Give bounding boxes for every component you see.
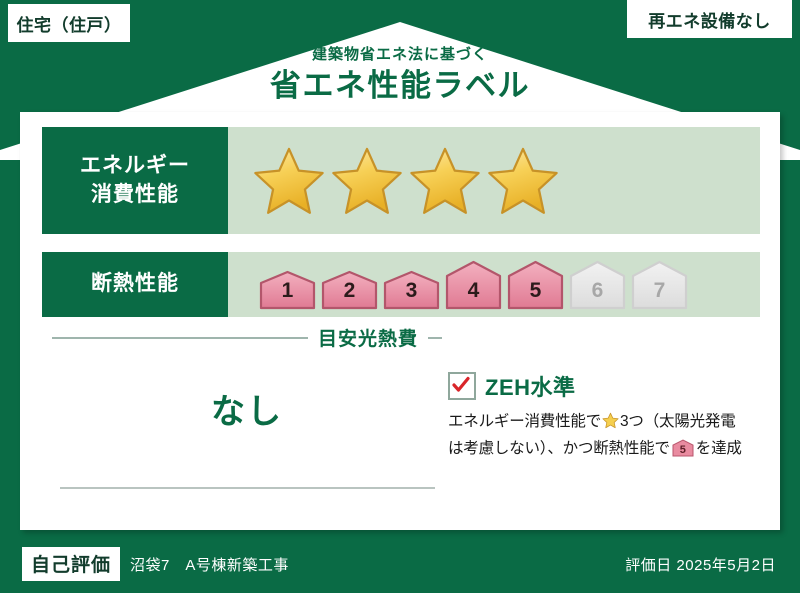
heading-rule-right — [428, 337, 442, 339]
building-name: 沼袋7 A号棟新築工事 — [130, 554, 289, 575]
house-icon-inline: 5 — [672, 439, 694, 457]
star-icon — [486, 145, 560, 217]
energy-performance-label-cell: エネルギー 消費性能 — [42, 127, 228, 234]
utility-cost-heading: 目安光熱費 — [52, 324, 442, 351]
building-type-tag: 住宅（住戸） — [8, 4, 130, 42]
star-icon — [330, 145, 404, 217]
evaluation-date: 評価日 2025年5月2日 — [625, 554, 800, 575]
renewable-energy-tag-label: 再エネ設備なし — [648, 7, 771, 32]
insulation-level-7: 7 — [630, 260, 689, 310]
insulation-performance-label-cell: 断熱性能 — [42, 252, 228, 317]
zeh-desc-part3: を達成 — [696, 440, 742, 457]
label-card: エネルギー 消費性能 断熱性能 1234567 目安光熱費 なし — [20, 112, 780, 530]
star-icon-inline — [602, 412, 619, 437]
energy-performance-value-cell — [228, 127, 760, 234]
energy-label-line1: エネルギー — [80, 152, 190, 180]
zeh-desc-part1: エネルギー消費性能で — [448, 413, 601, 430]
star-rating — [252, 145, 560, 217]
zeh-standard-block: ZEH水準 エネルギー消費性能で 3つ（太陽光発電 は考慮しない）、かつ断熱性能… — [448, 370, 768, 461]
zeh-heading: ZEH水準 — [448, 370, 768, 402]
insulation-level-5: 5 — [506, 260, 565, 310]
house-icon-inline-number: 5 — [672, 442, 694, 459]
insulation-label: 断熱性能 — [91, 270, 179, 298]
heading-rule-left — [52, 337, 308, 339]
star-icon — [252, 145, 326, 217]
zeh-title: ZEH水準 — [485, 370, 576, 402]
label-title: 省エネ性能ラベル — [0, 68, 800, 104]
footer-left-group: 自己評価 沼袋7 A号棟新築工事 — [0, 547, 289, 581]
zeh-desc-star-count: 3つ（太陽光発電 — [620, 413, 736, 430]
label-title-block: 建築物省エネ法に基づく 省エネ性能ラベル — [0, 46, 800, 104]
building-type-tag-label: 住宅（住戸） — [17, 11, 122, 36]
insulation-performance-value-cell: 1234567 — [228, 252, 760, 317]
utility-cost-bottom-rule — [60, 487, 435, 489]
zeh-desc-part2: は考慮しない）、かつ断熱性能で — [448, 440, 670, 457]
energy-label-line2: 消費性能 — [91, 181, 179, 209]
energy-performance-label: 住宅（住戸） 再エネ設備なし 建築物省エネ法に基づく 省エネ性能ラベル エネルギ… — [0, 0, 800, 593]
evaluation-type-badge: 自己評価 — [22, 547, 120, 581]
label-subtitle: 建築物省エネ法に基づく — [0, 46, 800, 64]
utility-cost-value: なし — [52, 384, 442, 433]
insulation-level-3: 3 — [382, 270, 441, 310]
zeh-description: エネルギー消費性能で 3つ（太陽光発電 は考慮しない）、かつ断熱性能で 5 を達… — [448, 410, 768, 461]
insulation-level-4: 4 — [444, 260, 503, 310]
insulation-level-2: 2 — [320, 270, 379, 310]
label-footer: 自己評価 沼袋7 A号棟新築工事 評価日 2025年5月2日 — [0, 535, 800, 593]
star-icon — [408, 145, 482, 217]
insulation-performance-row: 断熱性能 1234567 — [42, 252, 760, 317]
renewable-energy-tag: 再エネ設備なし — [627, 0, 792, 38]
insulation-rating-scale: 1234567 — [252, 260, 689, 310]
utility-cost-title: 目安光熱費 — [318, 324, 418, 351]
insulation-level-6: 6 — [568, 260, 627, 310]
checkbox-checked-icon — [448, 372, 476, 400]
insulation-level-1: 1 — [258, 270, 317, 310]
energy-performance-row: エネルギー 消費性能 — [42, 127, 760, 234]
